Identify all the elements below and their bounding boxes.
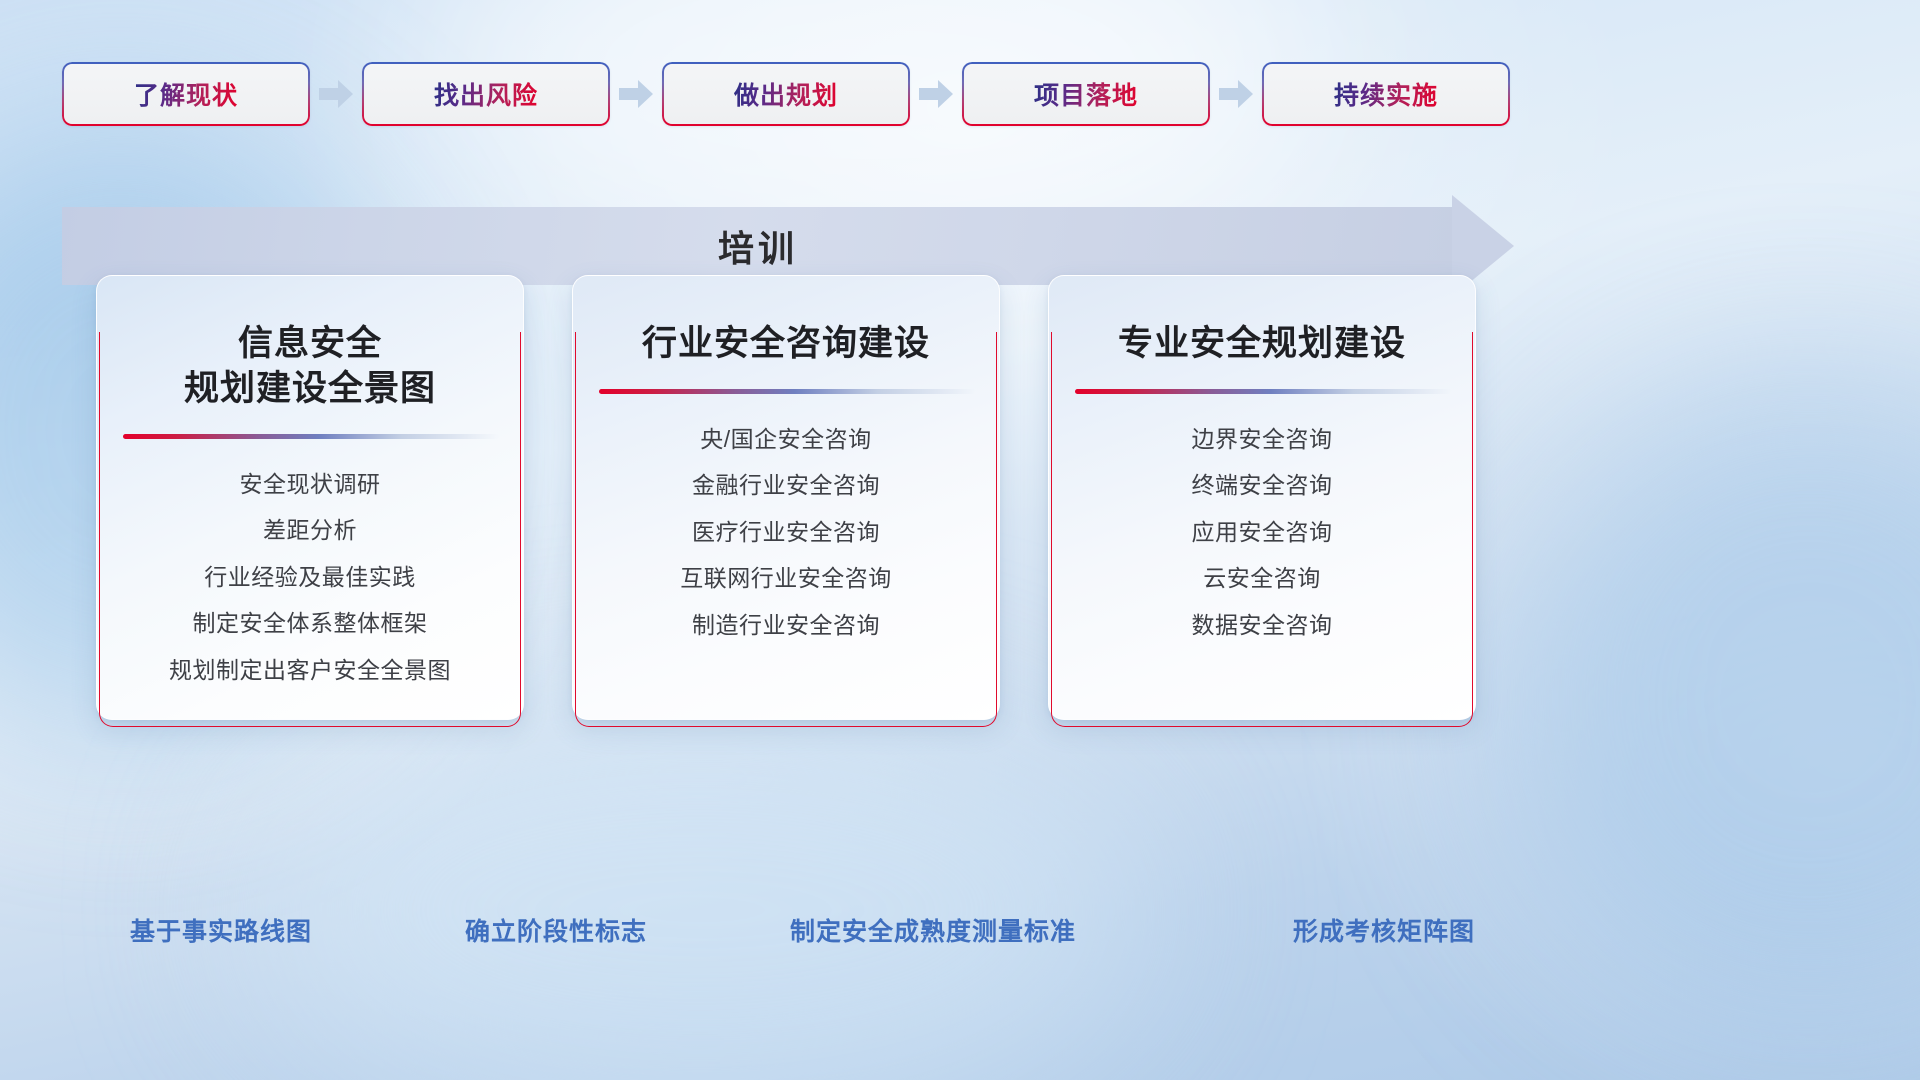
list-item: 行业经验及最佳实践	[204, 560, 416, 595]
step-chip-3[interactable]: 做出规划	[662, 62, 910, 126]
step-chip-1[interactable]: 了解现状	[62, 62, 310, 126]
list-item: 制定安全体系整体框架	[193, 606, 428, 641]
list-item: 互联网行业安全咨询	[680, 561, 892, 596]
card-divider-3	[1075, 389, 1451, 394]
step-chip-5[interactable]: 持续实施	[1262, 62, 1510, 126]
step-arrow-icon-1	[310, 62, 362, 126]
card-item-list-3: 边界安全咨询 终端安全咨询 应用安全咨询 云安全咨询 数据安全咨询	[1075, 422, 1449, 643]
step-chip-2[interactable]: 找出风险	[362, 62, 610, 126]
step-arrow-icon-4	[1210, 62, 1262, 126]
card-title-2: 行业安全咨询建设	[599, 322, 973, 367]
outcome-caption-2: 确立阶段性标志	[465, 912, 647, 948]
card-divider-2	[599, 389, 975, 394]
card-info-security-blueprint[interactable]: 信息安全 规划建设全景图 安全现状调研 差距分析 行业经验及最佳实践 制定安全体…	[96, 275, 524, 720]
list-item: 央/国企安全咨询	[700, 422, 871, 457]
banner-title: 培训	[62, 207, 1454, 285]
list-item: 应用安全咨询	[1192, 515, 1333, 550]
training-banner: 培训	[62, 207, 1514, 285]
list-item: 安全现状调研	[240, 467, 381, 502]
card-title-1: 信息安全 规划建设全景图	[123, 322, 497, 412]
list-item: 终端安全咨询	[1192, 468, 1333, 503]
step-label-1: 了解现状	[134, 76, 238, 112]
list-item: 云安全咨询	[1203, 561, 1321, 596]
process-step-row: 了解现状 找出风险 做出规划 项目落地	[62, 62, 1510, 126]
card-item-list-1: 安全现状调研 差距分析 行业经验及最佳实践 制定安全体系整体框架 规划制定出客户…	[123, 467, 497, 688]
outcome-caption-4: 形成考核矩阵图	[1293, 912, 1475, 948]
step-arrow-icon-2	[610, 62, 662, 126]
card-professional-security-planning[interactable]: 专业安全规划建设 边界安全咨询 终端安全咨询 应用安全咨询 云安全咨询 数据安全…	[1048, 275, 1476, 720]
list-item: 医疗行业安全咨询	[692, 515, 880, 550]
step-label-4: 项目落地	[1034, 76, 1138, 112]
card-industry-security-consulting[interactable]: 行业安全咨询建设 央/国企安全咨询 金融行业安全咨询 医疗行业安全咨询 互联网行…	[572, 275, 1000, 720]
step-label-5: 持续实施	[1334, 76, 1438, 112]
step-label-2: 找出风险	[434, 76, 538, 112]
card-title-3: 专业安全规划建设	[1075, 322, 1449, 367]
card-item-list-2: 央/国企安全咨询 金融行业安全咨询 医疗行业安全咨询 互联网行业安全咨询 制造行…	[599, 422, 973, 643]
outcome-caption-1: 基于事实路线图	[130, 912, 312, 948]
list-item: 金融行业安全咨询	[692, 468, 880, 503]
step-label-3: 做出规划	[734, 76, 838, 112]
list-item: 规划制定出客户安全全景图	[169, 653, 451, 688]
slide-canvas: 了解现状 找出风险 做出规划 项目落地	[0, 0, 1920, 1080]
background-glow-bottom	[250, 700, 1150, 1080]
list-item: 边界安全咨询	[1192, 422, 1333, 457]
outcome-caption-3: 制定安全成熟度测量标准	[790, 912, 1076, 948]
outcome-caption-row: 基于事实路线图 确立阶段性标志 制定安全成熟度测量标准 形成考核矩阵图	[0, 912, 1920, 956]
list-item: 数据安全咨询	[1192, 608, 1333, 643]
step-arrow-icon-3	[910, 62, 962, 126]
step-chip-4[interactable]: 项目落地	[962, 62, 1210, 126]
card-divider-1	[123, 434, 499, 439]
list-item: 制造行业安全咨询	[692, 608, 880, 643]
capability-card-row: 信息安全 规划建设全景图 安全现状调研 差距分析 行业经验及最佳实践 制定安全体…	[96, 275, 1526, 720]
list-item: 差距分析	[263, 513, 357, 548]
